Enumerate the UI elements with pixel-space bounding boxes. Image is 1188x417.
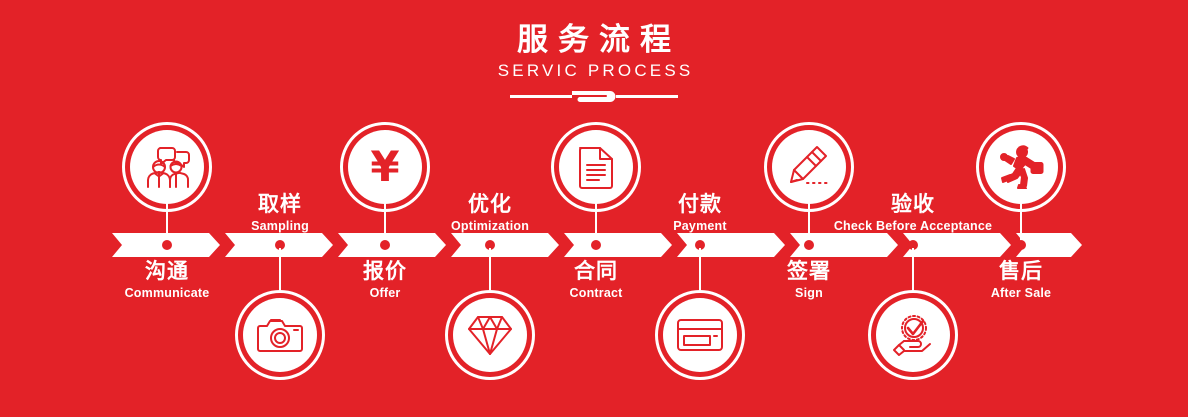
pencil-signature-icon <box>787 145 831 189</box>
paperclip-divider-icon <box>510 88 678 104</box>
step-marker-dot <box>591 240 601 250</box>
badge-inner <box>876 298 950 372</box>
ribbon-segment <box>903 233 1011 257</box>
ribbon-segment <box>564 233 672 257</box>
step-icon-badge[interactable] <box>235 290 325 380</box>
delivery-runner-icon <box>997 145 1045 189</box>
ribbon-segment <box>338 233 446 257</box>
diamond-icon <box>468 314 512 356</box>
ribbon-segment <box>677 233 785 257</box>
document-icon <box>578 145 614 189</box>
credit-card-icon <box>676 317 724 353</box>
page-title-cn: 服务流程 <box>0 22 1188 58</box>
step-marker-dot <box>162 240 172 250</box>
camera-icon <box>257 316 303 354</box>
badge-inner <box>663 298 737 372</box>
step-marker-dot <box>380 240 390 250</box>
step-connector <box>1020 202 1022 243</box>
page-title-en: SERVIC PROCESS <box>0 60 1188 82</box>
badge-inner <box>984 130 1058 204</box>
badge-inner <box>243 298 317 372</box>
step-label-cn: 售后 <box>891 258 1151 284</box>
badge-inner <box>453 298 527 372</box>
title-divider <box>0 88 1188 104</box>
people-talking-icon <box>144 146 190 188</box>
step-marker-dot <box>804 240 814 250</box>
step-icon-badge[interactable] <box>868 290 958 380</box>
step-marker-dot <box>1016 240 1026 250</box>
step-icon-badge[interactable] <box>445 290 535 380</box>
infographic-canvas: 服务流程 SERVIC PROCESS <box>0 0 1188 417</box>
ribbon-segment <box>451 233 559 257</box>
header: 服务流程 SERVIC PROCESS <box>0 22 1188 104</box>
hand-checkmark-icon <box>890 313 936 357</box>
step-label-en: Check Before Acceptance <box>783 218 1043 234</box>
step-label-en: After Sale <box>891 285 1151 301</box>
step-icon-badge[interactable] <box>655 290 745 380</box>
step-icon-badge[interactable] <box>976 122 1066 212</box>
step-caption: 售后 After Sale <box>891 258 1151 301</box>
yen-currency-icon: ¥ <box>370 146 399 188</box>
